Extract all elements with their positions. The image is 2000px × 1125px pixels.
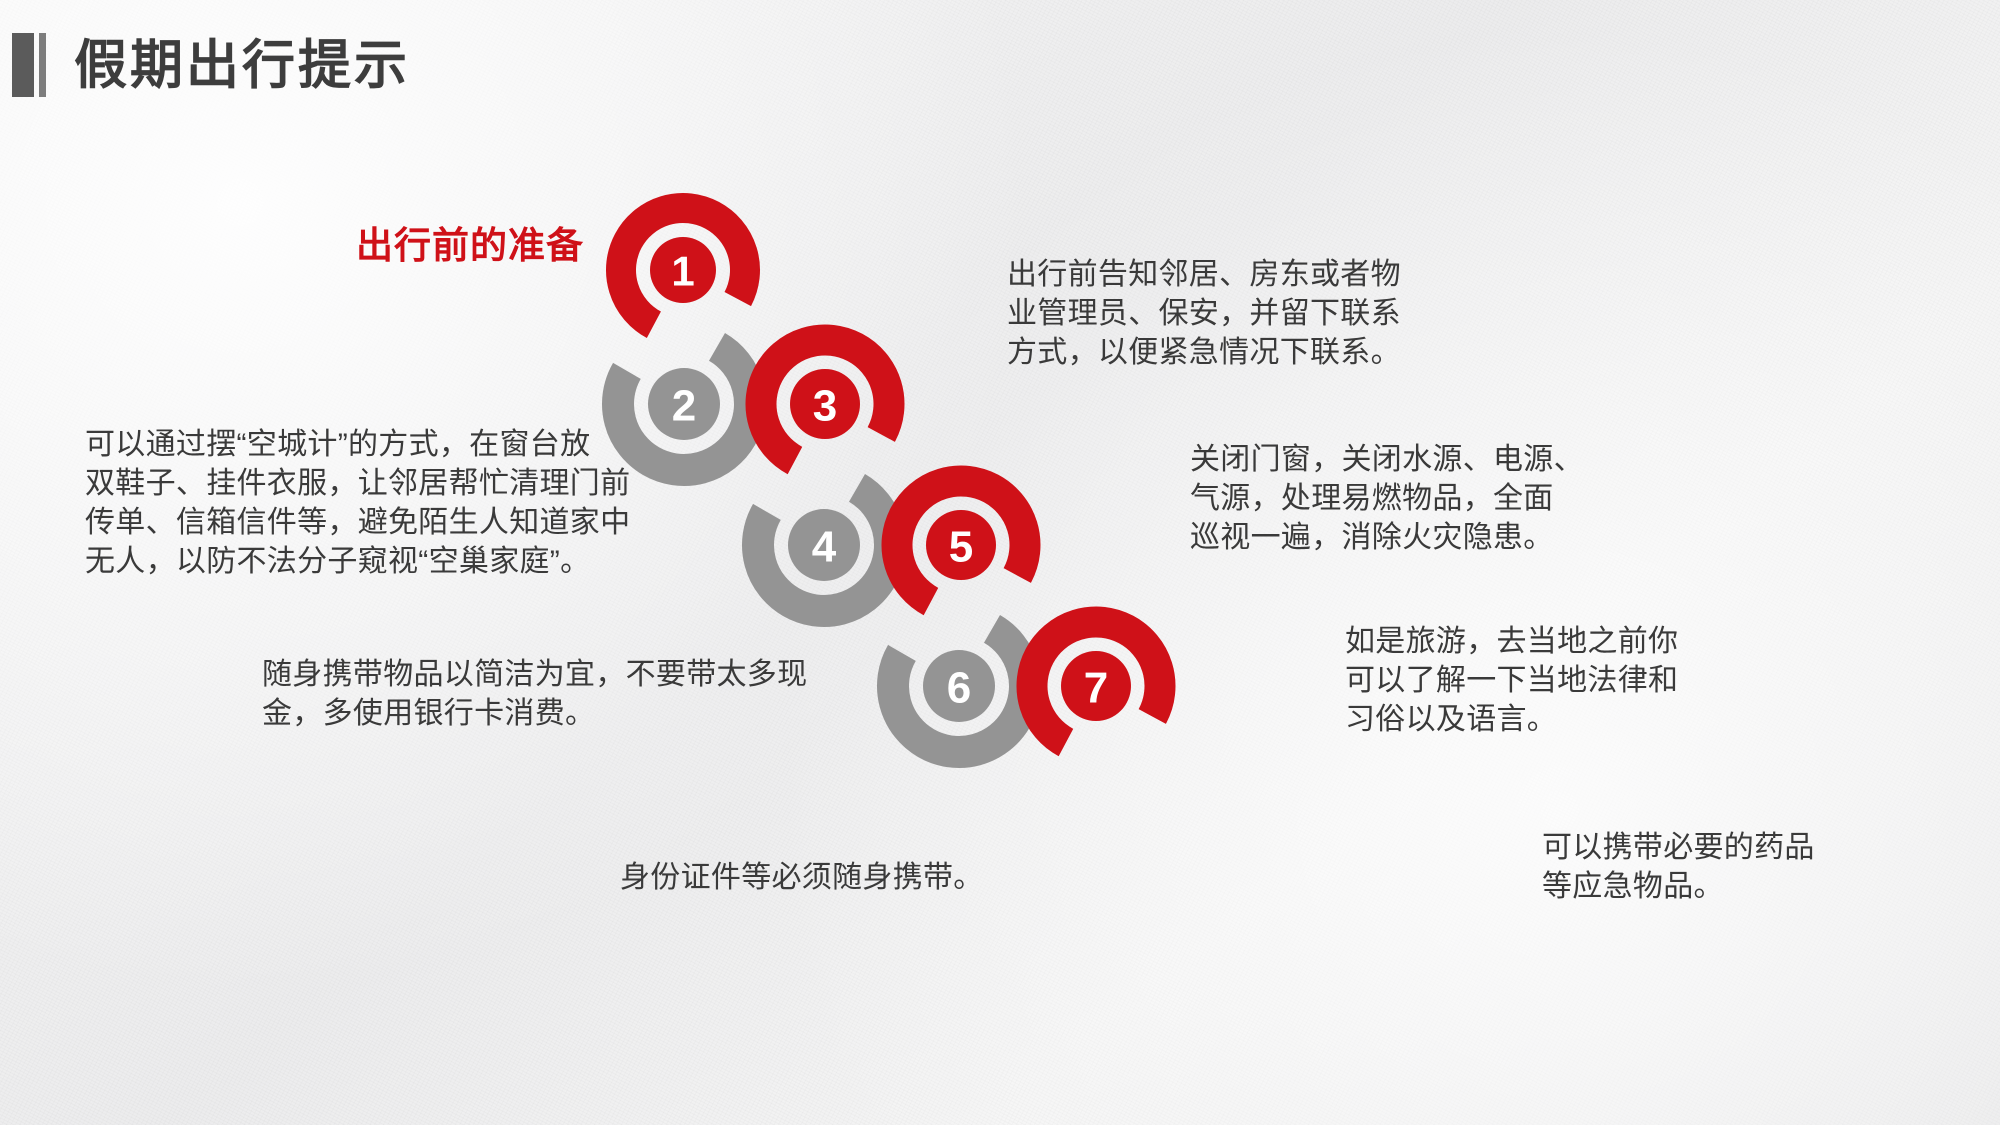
step-text-4: 随身携带物品以简洁为宜，不要带太多现 金，多使用银行卡消费。 bbox=[262, 655, 952, 733]
step-text-3: 关闭门窗，关闭水源、电源、 气源，处理易燃物品，全面 巡视一遍，消除火灾隐患。 bbox=[1190, 440, 1710, 557]
step-ring-2-number: 2 bbox=[672, 382, 696, 431]
step-text-5: 如是旅游，去当地之前你 可以了解一下当地法律和 习俗以及语言。 bbox=[1345, 622, 1845, 739]
step-ring-1-number: 1 bbox=[671, 248, 694, 295]
step-ring-3-number: 3 bbox=[813, 382, 837, 431]
step-text-6: 身份证件等必须随身携带。 bbox=[620, 858, 1040, 897]
step-ring-4-number: 4 bbox=[812, 523, 837, 572]
step-text-1: 出行前告知邻居、房东或者物 业管理员、保安，并留下联系 方式，以便紧急情况下联系… bbox=[1007, 255, 1507, 372]
step-ring-7-number: 7 bbox=[1084, 664, 1108, 713]
step-text-2: 可以通过摆“空城计”的方式，在窗台放 双鞋子、挂件衣服，让邻居帮忙清理门前 传单… bbox=[85, 425, 765, 581]
step-ring-7[interactable]: 7 bbox=[1012, 602, 1180, 770]
step-ring-5-number: 5 bbox=[949, 523, 973, 572]
step-text-7: 可以携带必要的药品 等应急物品。 bbox=[1542, 828, 1962, 906]
